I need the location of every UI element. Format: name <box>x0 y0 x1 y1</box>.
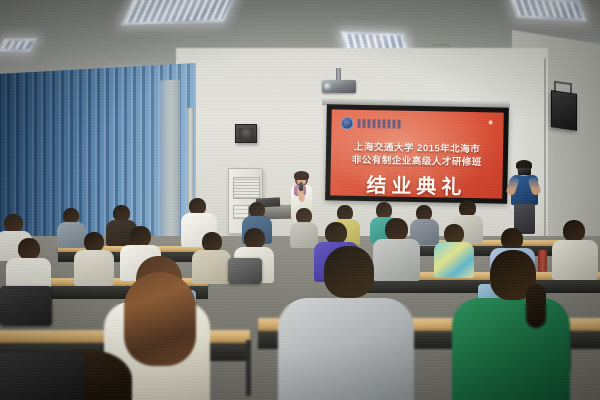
ceiling-light-1 <box>120 0 237 26</box>
wall-speaker-left <box>235 124 257 143</box>
attendee-torso <box>552 240 598 280</box>
attendee-torso <box>57 222 86 248</box>
attendee-torso <box>452 298 570 400</box>
attendee-hair <box>124 272 196 366</box>
ceiling-projector <box>322 68 356 98</box>
attendee-head <box>202 232 222 252</box>
thermos-flask <box>538 250 547 272</box>
attendee-torso <box>373 239 420 281</box>
wall-speaker-right <box>551 90 577 131</box>
camera-icon <box>518 168 531 175</box>
screen-surface: 上海交通大学 2015年北海市 非公有制企业高级人才研修班 结业典礼 <box>330 109 504 198</box>
presenter-hair <box>294 171 309 180</box>
attendee-head <box>444 224 464 244</box>
photographer-man <box>508 160 540 234</box>
slide-main-title: 结业典礼 <box>330 168 502 198</box>
wall-corner-edge <box>544 58 546 258</box>
attendee-head <box>130 226 151 247</box>
attendee-torso <box>192 250 231 284</box>
attendee-head <box>324 246 374 298</box>
attendee-head <box>385 218 408 241</box>
ac-grill-upper <box>233 177 260 199</box>
attendee-head <box>325 222 347 244</box>
attendee-head <box>84 232 104 252</box>
projection-screen: 上海交通大学 2015年北海市 非公有制企业高级人才研修班 结业典礼 <box>325 104 509 203</box>
curtain-gap-wall <box>160 79 180 250</box>
attendee-head <box>244 228 265 249</box>
organization-name-text <box>357 119 401 129</box>
projector-lens <box>324 83 332 90</box>
attendee-torso <box>74 250 114 286</box>
chair-leg-2 <box>246 340 251 396</box>
attendee-ponytail <box>526 284 546 328</box>
microphone-icon <box>299 182 303 191</box>
attendee-head <box>563 220 585 242</box>
attendee-torso <box>278 298 414 400</box>
screen-corner-dot-icon <box>489 120 493 124</box>
attendee-head <box>501 228 523 250</box>
attendee-torso <box>434 242 474 278</box>
bag-foreground <box>0 352 84 400</box>
backpack-left <box>0 286 52 326</box>
desk-front-mid-right <box>342 280 600 293</box>
attendee-torso <box>290 222 318 248</box>
classroom-photo: 上海交通大学 2015年北海市 非公有制企业高级人才研修班 结业典礼 <box>0 0 600 400</box>
attendee-head <box>18 238 40 260</box>
handbag-mid <box>228 258 262 284</box>
